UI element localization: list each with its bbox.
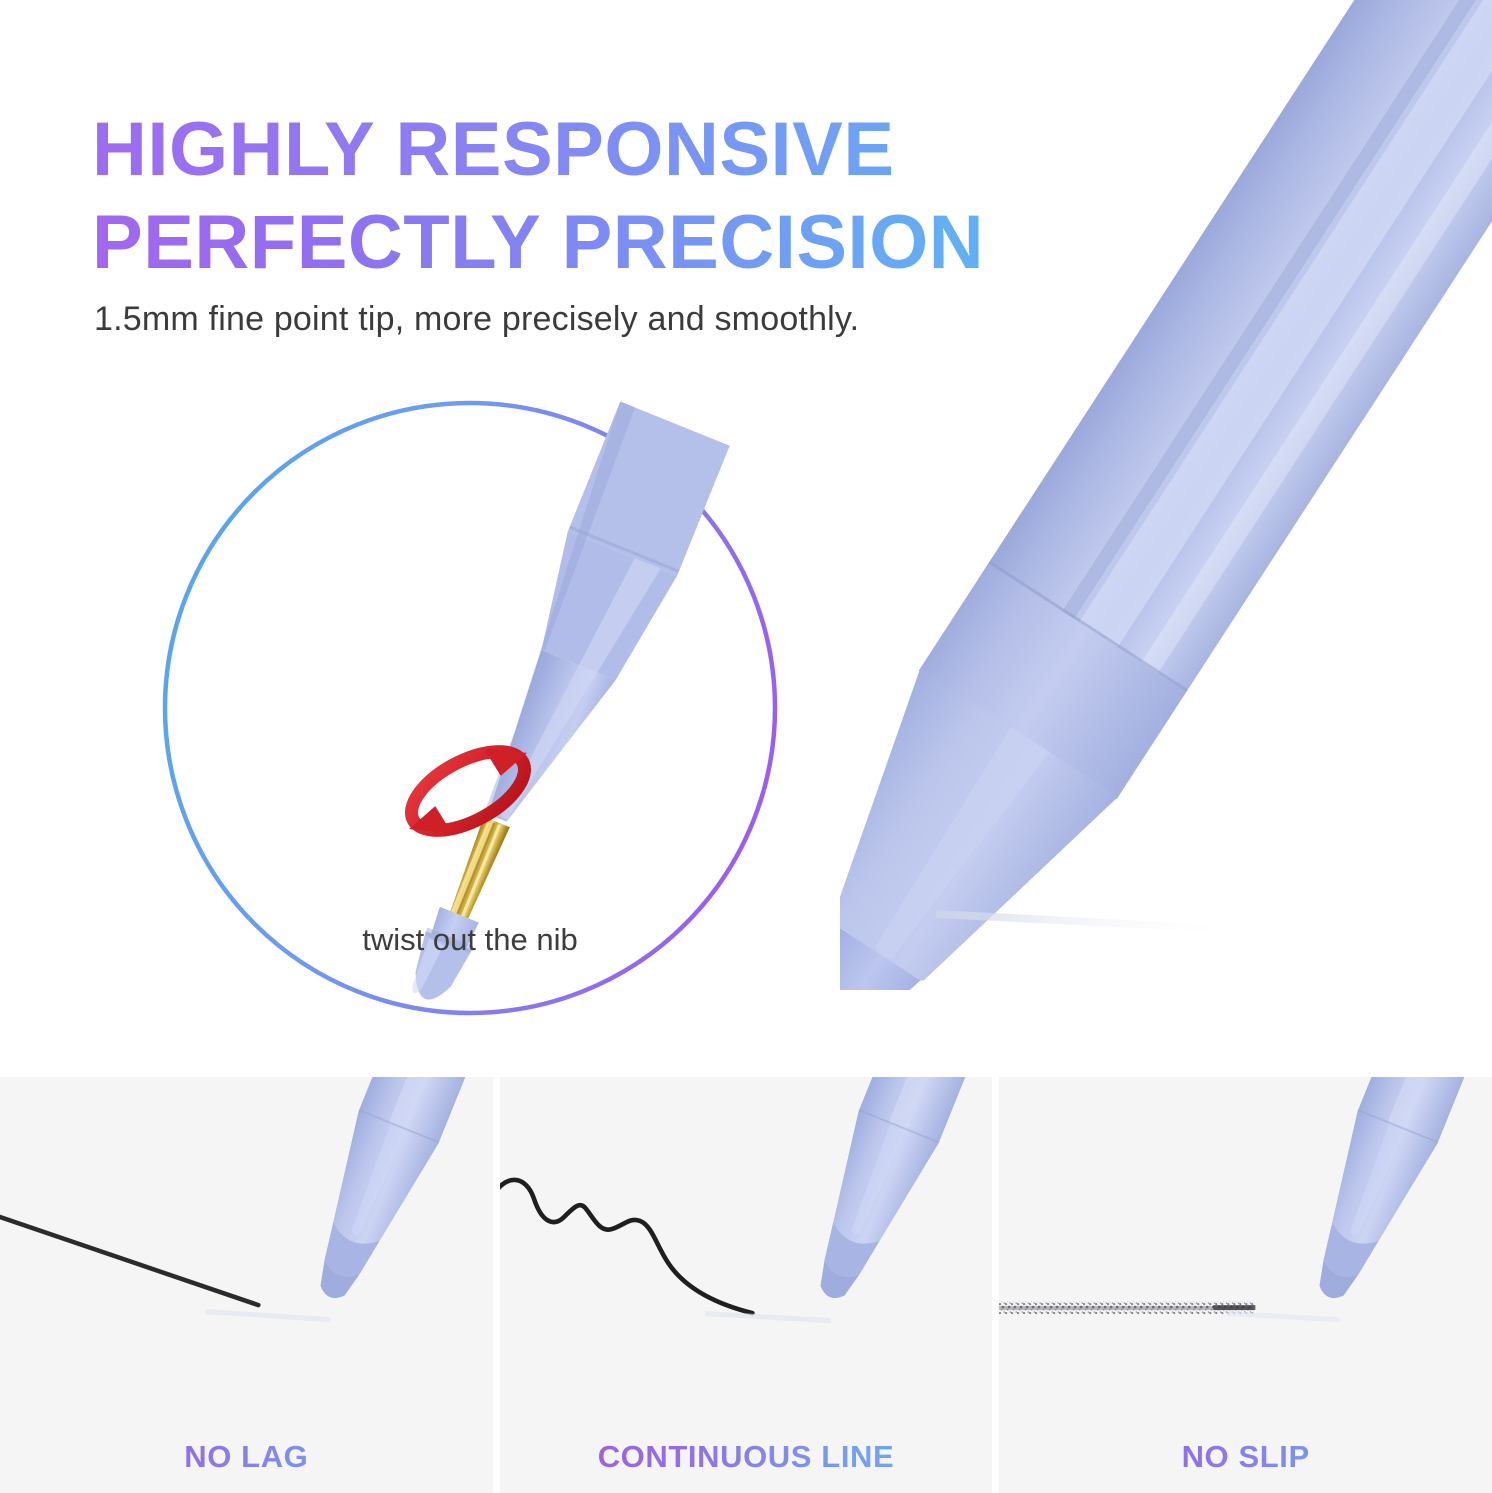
panel-no-lag: NO LAG — [0, 1077, 493, 1493]
headline-line-2: PERFECTLY PRECISION — [92, 197, 1212, 290]
drawn-textured-line — [999, 1301, 1255, 1314]
panel-label: CONTINUOUS LINE — [500, 1439, 993, 1475]
drawn-straight-line — [0, 1215, 258, 1305]
continuous-line-illustration — [500, 1077, 993, 1417]
feature-panels-row: NO LAG — [0, 1077, 1492, 1493]
panel-continuous-line: CONTINUOUS LINE — [500, 1077, 993, 1493]
hero-section: HIGHLY RESPONSIVE PERFECTLY PRECISION 1.… — [0, 0, 1492, 1077]
no-lag-illustration — [0, 1077, 493, 1417]
headline-line-1: HIGHLY RESPONSIVE — [92, 104, 1212, 197]
product-feature-graphic: HIGHLY RESPONSIVE PERFECTLY PRECISION 1.… — [0, 0, 1492, 1493]
nib-detail-inset: twist out the nib — [150, 390, 790, 1030]
drawn-wavy-line — [500, 1180, 752, 1313]
subtitle-text: 1.5mm fine point tip, more precisely and… — [94, 300, 859, 339]
inset-caption: twist out the nib — [362, 922, 577, 957]
headline-block: HIGHLY RESPONSIVE PERFECTLY PRECISION — [92, 104, 1212, 289]
panel-label: NO LAG — [0, 1439, 493, 1475]
no-slip-illustration — [999, 1077, 1492, 1417]
panel-label: NO SLIP — [999, 1439, 1492, 1475]
panel-no-slip: NO SLIP — [999, 1077, 1492, 1493]
